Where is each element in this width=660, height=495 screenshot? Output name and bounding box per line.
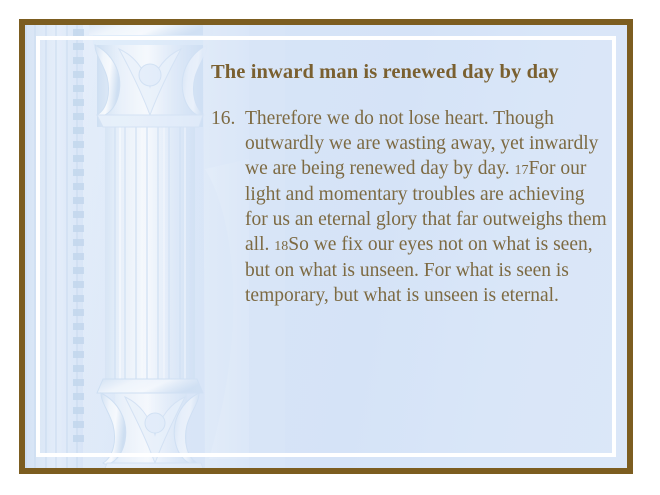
slide-outer-brown-frame: The inward man is renewed day by day 16.… bbox=[19, 19, 633, 474]
verse-number-18: 18 bbox=[274, 239, 288, 254]
scripture-body-text: Therefore we do not lose heart. Though o… bbox=[245, 106, 607, 309]
scripture-segment-3: So we fix our eyes not on what is seen, … bbox=[245, 234, 593, 306]
slide-canvas: The inward man is renewed day by day 16.… bbox=[0, 0, 660, 495]
list-item-number: 16. bbox=[211, 106, 245, 131]
page-title: The inward man is renewed day by day bbox=[211, 59, 607, 86]
slide-text-content: The inward man is renewed day by day 16.… bbox=[211, 59, 607, 308]
scripture-list-item: 16. Therefore we do not lose heart. Thou… bbox=[211, 106, 607, 309]
verse-number-17: 17 bbox=[514, 163, 528, 178]
slide-blue-panel: The inward man is renewed day by day 16.… bbox=[25, 25, 627, 468]
